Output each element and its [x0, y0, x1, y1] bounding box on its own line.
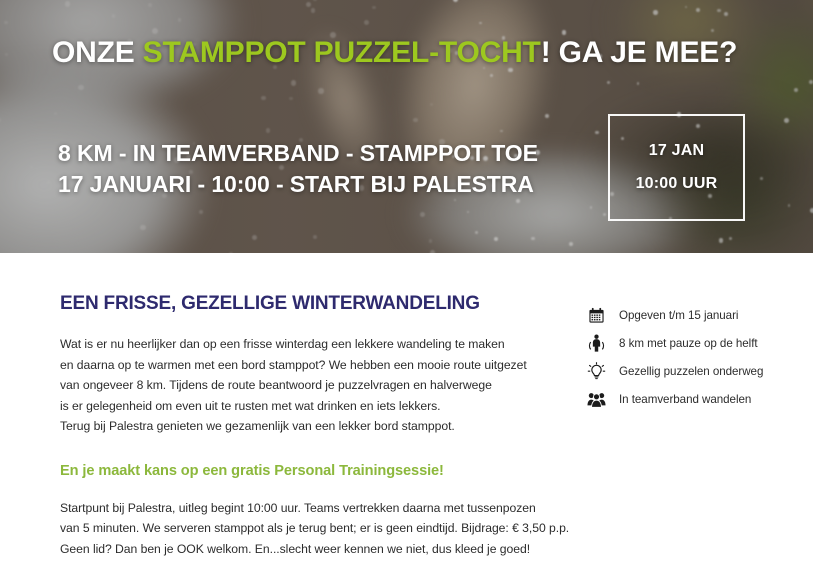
calendar-icon: [586, 305, 606, 327]
details-line: Geen lid? Dan ben je OOK welkom. En...sl…: [60, 539, 550, 560]
intro-line: en daarna op te warmen met een bord stam…: [60, 355, 550, 376]
details-line: Startpunt bij Palestra, uitleg begint 10…: [60, 498, 550, 519]
intro-paragraph: Wat is er nu heerlijker dan op een friss…: [60, 334, 550, 437]
feature-label: In teamverband wandelen: [619, 393, 751, 406]
section-title: EEN FRISSE, GEZELLIGE WINTERWANDELING: [60, 293, 550, 315]
headline-part-2: ! GA JE MEE?: [541, 36, 738, 69]
group-people-icon: [586, 389, 606, 411]
headline-accent: STAMPPOT PUZZEL-TOCHT: [143, 36, 541, 69]
walking-person-icon: [586, 333, 606, 355]
content-left-column: EEN FRISSE, GEZELLIGE WINTERWANDELING Wa…: [60, 293, 550, 559]
feature-list: Opgeven t/m 15 januari8 km met pauze op …: [586, 303, 801, 415]
hero-subline-2: 17 JANUARI - 10:00 - START BIJ PALESTRA: [58, 169, 538, 200]
feature-item-2: Gezellig puzzelen onderweg: [586, 359, 801, 384]
event-date-box: 17 JAN 10:00 UUR: [608, 114, 745, 221]
intro-line: is er gelegenheid om even uit te rusten …: [60, 396, 550, 417]
highlight-text: En je maakt kans op een gratis Personal …: [60, 463, 550, 479]
hero-banner: ONZE STAMPPOT PUZZEL-TOCHT! GA JE MEE? 8…: [0, 0, 813, 253]
feature-item-3: In teamverband wandelen: [586, 387, 801, 412]
intro-line: Wat is er nu heerlijker dan op een friss…: [60, 334, 550, 355]
details-line: van 5 minuten. We serveren stamppot als …: [60, 518, 550, 539]
feature-label: 8 km met pauze op de helft: [619, 337, 758, 350]
hero-subline-1: 8 KM - IN TEAMVERBAND - STAMPPOT TOE: [58, 138, 538, 169]
feature-item-0: Opgeven t/m 15 januari: [586, 303, 801, 328]
feature-label: Opgeven t/m 15 januari: [619, 309, 738, 322]
intro-line: van ongeveer 8 km. Tijdens de route bean…: [60, 375, 550, 396]
headline-part-1: ONZE: [52, 36, 143, 69]
details-paragraph: Startpunt bij Palestra, uitleg begint 10…: [60, 498, 550, 560]
hero-subline: 8 KM - IN TEAMVERBAND - STAMPPOT TOE 17 …: [58, 138, 538, 200]
hero-headline: ONZE STAMPPOT PUZZEL-TOCHT! GA JE MEE?: [52, 38, 737, 68]
event-time: 10:00 UUR: [636, 175, 718, 193]
content-area: EEN FRISSE, GEZELLIGE WINTERWANDELING Wa…: [0, 253, 813, 580]
feature-label: Gezellig puzzelen onderweg: [619, 365, 763, 378]
intro-line: Terug bij Palestra genieten we gezamenli…: [60, 416, 550, 437]
feature-item-1: 8 km met pauze op de helft: [586, 331, 801, 356]
event-date: 17 JAN: [649, 142, 704, 160]
lightbulb-icon: [586, 361, 606, 383]
poster-page: ONZE STAMPPOT PUZZEL-TOCHT! GA JE MEE? 8…: [0, 0, 813, 580]
